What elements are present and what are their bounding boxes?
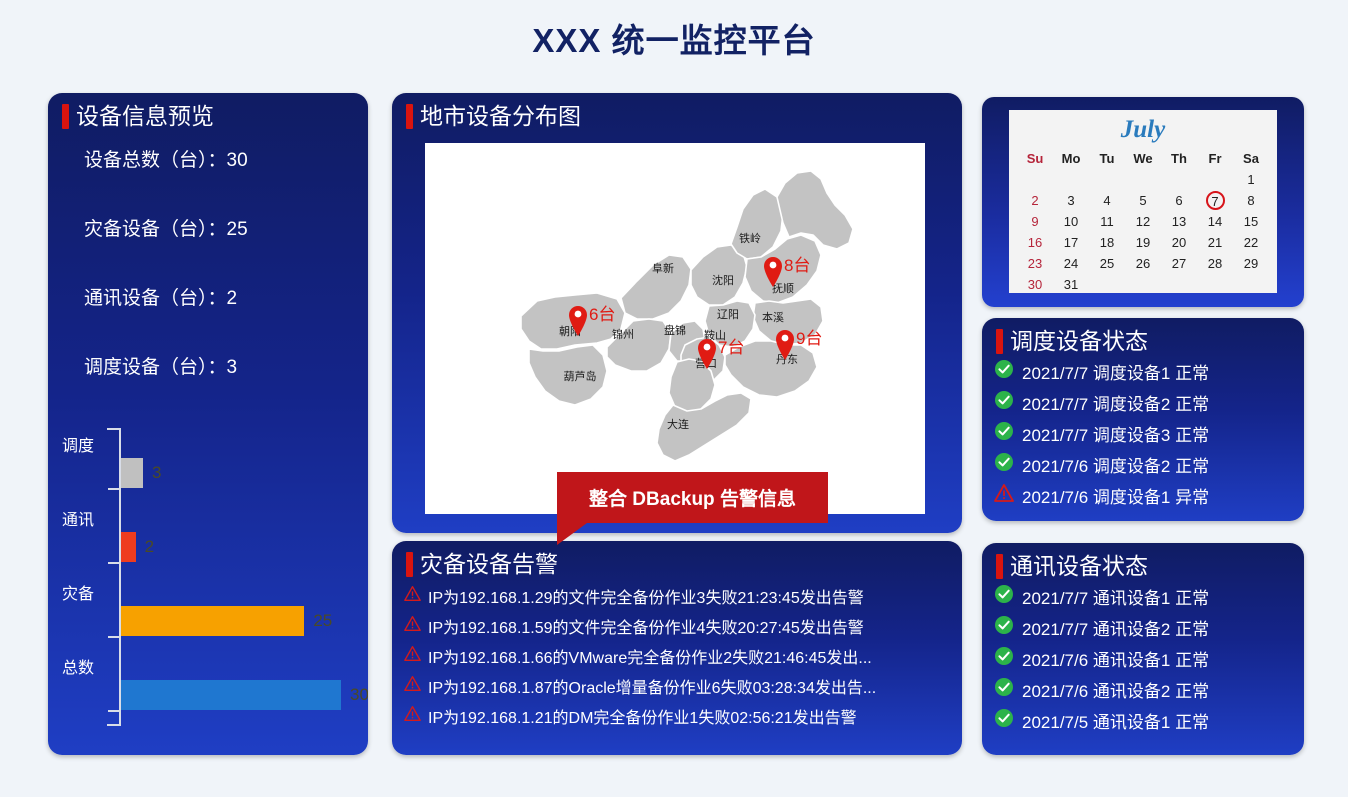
- bar-category-label: 通讯: [62, 506, 114, 530]
- calendar-day-cell[interactable]: 15: [1233, 211, 1269, 232]
- calendar-day-cell[interactable]: 28: [1197, 253, 1233, 274]
- calendar-day-cell[interactable]: 7: [1197, 190, 1233, 211]
- dispatch-status-text: 2021/7/6 调度设备1 异常: [1022, 483, 1209, 508]
- check-circle-icon: [994, 708, 1014, 733]
- calendar-empty-cell: [1161, 274, 1197, 295]
- dispatch-status-header: 调度设备状态: [982, 318, 1304, 354]
- bar-value-label: 25: [313, 611, 332, 631]
- calendar-weekday: Sa: [1233, 148, 1269, 169]
- accent-marker-icon: [406, 104, 413, 129]
- calendar-empty-cell: [1233, 274, 1269, 295]
- comm-status-row[interactable]: 2021/7/6 通讯设备2 正常: [994, 674, 1304, 705]
- map-city-label: 阜新: [652, 261, 674, 275]
- map-heading: 地市设备分布图: [420, 103, 581, 129]
- bar[interactable]: 3: [121, 458, 143, 488]
- comm-status-text: 2021/7/6 通讯设备1 正常: [1022, 646, 1209, 671]
- callout-banner: 整合 DBackup 告警信息: [557, 472, 828, 523]
- calendar-day-cell[interactable]: 13: [1161, 211, 1197, 232]
- comm-status-header: 通讯设备状态: [982, 543, 1304, 579]
- check-circle-icon: [994, 452, 1014, 477]
- map-city-label: 盘锦: [664, 323, 686, 337]
- bar[interactable]: 30: [121, 680, 341, 710]
- calendar-day-cell[interactable]: 23: [1017, 253, 1053, 274]
- bar-category-label: 总数: [62, 654, 114, 678]
- bar-fill: [121, 458, 143, 488]
- calendar-empty-cell: [1197, 274, 1233, 295]
- comm-status-heading: 通讯设备状态: [1010, 553, 1148, 579]
- comm-status-panel: 通讯设备状态 2021/7/7 通讯设备1 正常2021/7/7 通讯设备2 正…: [982, 543, 1304, 755]
- dispatch-status-row[interactable]: 2021/7/7 调度设备3 正常: [994, 418, 1304, 449]
- map-pin-hole: [770, 262, 777, 269]
- device-info-header: 设备信息预览: [48, 93, 368, 129]
- map-city-label: 沈阳: [712, 273, 734, 287]
- calendar-day-cell[interactable]: 19: [1125, 232, 1161, 253]
- accent-marker-icon: [996, 554, 1003, 579]
- alarm-heading: 灾备设备告警: [420, 551, 558, 577]
- callout-tail-icon: [557, 523, 587, 545]
- check-circle-icon: [994, 421, 1014, 446]
- calendar-day-cell[interactable]: 16: [1017, 232, 1053, 253]
- warning-triangle-icon: [404, 675, 421, 697]
- dispatch-status-text: 2021/7/6 调度设备2 正常: [1022, 452, 1209, 477]
- calendar-weekday-row: SuMoTuWeThFrSa: [1017, 148, 1269, 169]
- accent-marker-icon: [62, 104, 69, 129]
- comm-status-list: 2021/7/7 通讯设备1 正常2021/7/7 通讯设备2 正常2021/7…: [982, 579, 1304, 736]
- liaoning-map-svg: 阜新铁岭沈阳抚顺朝阳锦州盘锦辽阳本溪鞍山葫芦岛营口丹东大连 6台8台7台9台: [425, 143, 925, 514]
- alarm-row[interactable]: IP为192.168.1.21的DM完全备份作业1失败02:56:21发出告警: [404, 701, 962, 731]
- comm-status-text: 2021/7/5 通讯设备1 正常: [1022, 708, 1209, 733]
- calendar-weekday: We: [1125, 148, 1161, 169]
- map-pin-label: 8台: [784, 256, 810, 275]
- alarm-text: IP为192.168.1.66的VMware完全备份作业2失败21:46:45发…: [428, 644, 872, 668]
- bar-row: 灾备25: [62, 576, 354, 650]
- calendar-weekday: Fr: [1197, 148, 1233, 169]
- calendar-day-cell[interactable]: 4: [1089, 190, 1125, 211]
- calendar-empty-cell: [1017, 169, 1053, 190]
- dispatch-status-row[interactable]: 2021/7/6 调度设备2 正常: [994, 449, 1304, 480]
- calendar-day-cell[interactable]: 27: [1161, 253, 1197, 274]
- calendar-grid[interactable]: SuMoTuWeThFrSa 1234567891011121314151617…: [1017, 148, 1269, 295]
- map-canvas[interactable]: 阜新铁岭沈阳抚顺朝阳锦州盘锦辽阳本溪鞍山葫芦岛营口丹东大连 6台8台7台9台: [425, 143, 925, 514]
- stat-total: 设备总数（台）：30: [84, 151, 368, 170]
- accent-marker-icon: [406, 552, 413, 577]
- dashboard-page: XXX 统一监控平台 设备信息预览 设备总数（台）：30 灾备设备（台）：25 …: [0, 0, 1348, 797]
- device-bar-chart: 调度3通讯2灾备25总数30: [62, 428, 354, 743]
- warning-triangle-icon: [404, 645, 421, 667]
- calendar-weekday: Su: [1017, 148, 1053, 169]
- map-city-label: 葫芦岛: [564, 369, 597, 383]
- check-circle-icon: [994, 359, 1014, 384]
- calendar-week-row: 2345678: [1017, 190, 1269, 211]
- bar-fill: [121, 680, 341, 710]
- dispatch-status-row[interactable]: 2021/7/7 调度设备2 正常: [994, 387, 1304, 418]
- alarm-text: IP为192.168.1.87的Oracle增量备份作业6失败03:28:34发…: [428, 674, 876, 698]
- bar-fill: [121, 532, 136, 562]
- bar-value-label: 2: [145, 537, 154, 557]
- check-circle-icon: [994, 677, 1014, 702]
- alarm-row[interactable]: IP为192.168.1.29的文件完全备份作业3失败21:23:45发出告警: [404, 581, 962, 611]
- calendar-weekday: Mo: [1053, 148, 1089, 169]
- comm-status-row[interactable]: 2021/7/5 通讯设备1 正常: [994, 705, 1304, 736]
- map-pin-label: 9台: [796, 329, 822, 348]
- alarm-text: IP为192.168.1.29的文件完全备份作业3失败21:23:45发出告警: [428, 584, 864, 608]
- calendar-day-cell[interactable]: 30: [1017, 274, 1053, 295]
- calendar-day-cell[interactable]: 6: [1161, 190, 1197, 211]
- stat-dispatch: 调度设备（台）：3: [84, 358, 368, 377]
- device-stats-list: 设备总数（台）：30 灾备设备（台）：25 通讯设备（台）：2 调度设备（台）：…: [48, 151, 368, 377]
- comm-status-text: 2021/7/7 通讯设备1 正常: [1022, 584, 1209, 609]
- bar-category-label: 调度: [62, 432, 114, 456]
- map-pin-hole: [704, 344, 711, 351]
- alarm-text: IP为192.168.1.59的文件完全备份作业4失败20:27:45发出告警: [428, 614, 864, 638]
- map-city-label: 铁岭: [739, 231, 761, 245]
- calendar-day-cell[interactable]: 11: [1089, 211, 1125, 232]
- calendar-weekday: Th: [1161, 148, 1197, 169]
- page-title: XXX 统一监控平台: [0, 14, 1348, 62]
- calendar-day-cell[interactable]: 24: [1053, 253, 1089, 274]
- calendar-day-cell[interactable]: 14: [1197, 211, 1233, 232]
- axis-tick: [108, 562, 120, 564]
- calendar-day-cell[interactable]: 9: [1017, 211, 1053, 232]
- map-pin-hole: [782, 335, 789, 342]
- axis-tick: [108, 488, 120, 490]
- calendar-day-cell[interactable]: 8: [1233, 190, 1269, 211]
- calendar-day-cell[interactable]: 21: [1197, 232, 1233, 253]
- device-info-panel: 设备信息预览 设备总数（台）：30 灾备设备（台）：25 通讯设备（台）：2 调…: [48, 93, 368, 755]
- dispatch-status-panel: 调度设备状态 2021/7/7 调度设备1 正常2021/7/7 调度设备2 正…: [982, 318, 1304, 521]
- calendar-card[interactable]: July SuMoTuWeThFrSa 12345678910111213141…: [1009, 110, 1277, 293]
- device-info-heading: 设备信息预览: [76, 103, 214, 129]
- bar-row: 调度3: [62, 428, 354, 502]
- calendar-panel: July SuMoTuWeThFrSa 12345678910111213141…: [982, 97, 1304, 307]
- alarm-list: IP为192.168.1.29的文件完全备份作业3失败21:23:45发出告警I…: [392, 577, 962, 731]
- callout-text: 整合 DBackup 告警信息: [589, 484, 796, 511]
- alarm-row[interactable]: IP为192.168.1.66的VMware完全备份作业2失败21:46:45发…: [404, 641, 962, 671]
- calendar-today-marker: 7: [1206, 191, 1225, 210]
- alarm-text: IP为192.168.1.21的DM完全备份作业1失败02:56:21发出告警: [428, 704, 857, 728]
- stat-comm: 通讯设备（台）：2: [84, 289, 368, 308]
- calendar-body[interactable]: 1234567891011121314151617181920212223242…: [1017, 169, 1269, 295]
- dispatch-status-row[interactable]: 2021/7/7 调度设备1 正常: [994, 356, 1304, 387]
- calendar-day-cell[interactable]: 12: [1125, 211, 1161, 232]
- calendar-day-cell[interactable]: 2: [1017, 190, 1053, 211]
- comm-status-text: 2021/7/7 通讯设备2 正常: [1022, 615, 1209, 640]
- calendar-week-row: 3031: [1017, 274, 1269, 295]
- comm-status-row[interactable]: 2021/7/7 通讯设备2 正常: [994, 612, 1304, 643]
- dispatch-status-text: 2021/7/7 调度设备2 正常: [1022, 390, 1209, 415]
- bar-row: 通讯2: [62, 502, 354, 576]
- calendar-week-row: 9101112131415: [1017, 211, 1269, 232]
- calendar-month-label: July: [1009, 114, 1277, 145]
- axis-cap-bottom: [107, 724, 120, 726]
- calendar-week-row: 16171819202122: [1017, 232, 1269, 253]
- calendar-day-cell[interactable]: 22: [1233, 232, 1269, 253]
- calendar-day-cell[interactable]: 1: [1233, 169, 1269, 190]
- alarm-header: 灾备设备告警: [392, 541, 962, 577]
- calendar-empty-cell: [1089, 169, 1125, 190]
- map-city-label: 本溪: [762, 310, 784, 324]
- calendar-empty-cell: [1125, 274, 1161, 295]
- bar-row: 总数30: [62, 650, 354, 724]
- map-city-label: 大连: [667, 417, 689, 431]
- calendar-day-cell[interactable]: 26: [1125, 253, 1161, 274]
- comm-status-text: 2021/7/6 通讯设备2 正常: [1022, 677, 1209, 702]
- calendar-empty-cell: [1161, 169, 1197, 190]
- bar-value-label: 30: [350, 685, 368, 705]
- comm-status-row[interactable]: 2021/7/7 通讯设备1 正常: [994, 581, 1304, 612]
- check-circle-icon: [994, 615, 1014, 640]
- map-header: 地市设备分布图: [392, 93, 962, 129]
- stat-backup: 灾备设备（台）：25: [84, 220, 368, 239]
- alarm-row[interactable]: IP为192.168.1.59的文件完全备份作业4失败20:27:45发出告警: [404, 611, 962, 641]
- calendar-day-cell[interactable]: 20: [1161, 232, 1197, 253]
- calendar-weekday: Tu: [1089, 148, 1125, 169]
- axis-tick: [108, 710, 120, 712]
- calendar-day-cell[interactable]: 3: [1053, 190, 1089, 211]
- map-pin-label: 7台: [718, 338, 744, 357]
- warning-triangle-icon: [404, 585, 421, 607]
- calendar-day-cell[interactable]: 25: [1089, 253, 1125, 274]
- calendar-week-row: 1: [1017, 169, 1269, 190]
- check-circle-icon: [994, 584, 1014, 609]
- bar[interactable]: 25: [121, 606, 304, 636]
- axis-tick: [108, 636, 120, 638]
- alarm-panel: 灾备设备告警 IP为192.168.1.29的文件完全备份作业3失败21:23:…: [392, 541, 962, 755]
- check-circle-icon: [994, 390, 1014, 415]
- warning-triangle-icon: [404, 705, 421, 727]
- check-circle-icon: [994, 646, 1014, 671]
- warning-triangle-icon: [404, 615, 421, 637]
- map-city-label: 锦州: [612, 327, 634, 341]
- comm-status-row[interactable]: 2021/7/6 通讯设备1 正常: [994, 643, 1304, 674]
- bar-category-label: 灾备: [62, 580, 114, 604]
- calendar-empty-cell: [1197, 169, 1233, 190]
- accent-marker-icon: [996, 329, 1003, 354]
- calendar-day-cell[interactable]: 5: [1125, 190, 1161, 211]
- dispatch-status-row[interactable]: 2021/7/6 调度设备1 异常: [994, 480, 1304, 511]
- map-pin-hole: [575, 311, 582, 318]
- calendar-empty-cell: [1089, 274, 1125, 295]
- calendar-day-cell[interactable]: 31: [1053, 274, 1089, 295]
- calendar-week-row: 23242526272829: [1017, 253, 1269, 274]
- bar-value-label: 3: [152, 463, 161, 483]
- map-pin-label: 6台: [589, 305, 615, 324]
- map-panel: 地市设备分布图: [392, 93, 962, 533]
- dispatch-status-heading: 调度设备状态: [1010, 328, 1148, 354]
- calendar-empty-cell: [1125, 169, 1161, 190]
- calendar-day-cell[interactable]: 10: [1053, 211, 1089, 232]
- bar-fill: [121, 606, 304, 636]
- calendar-day-cell[interactable]: 17: [1053, 232, 1089, 253]
- map-city-label: 辽阳: [717, 308, 739, 321]
- calendar-empty-cell: [1053, 169, 1089, 190]
- bar[interactable]: 2: [121, 532, 136, 562]
- dispatch-status-list: 2021/7/7 调度设备1 正常2021/7/7 调度设备2 正常2021/7…: [982, 354, 1304, 511]
- alarm-row[interactable]: IP为192.168.1.87的Oracle增量备份作业6失败03:28:34发…: [404, 671, 962, 701]
- calendar-day-cell[interactable]: 18: [1089, 232, 1125, 253]
- calendar-day-cell[interactable]: 29: [1233, 253, 1269, 274]
- dispatch-status-text: 2021/7/7 调度设备1 正常: [1022, 359, 1209, 384]
- warning-triangle-icon: [994, 483, 1014, 508]
- dispatch-status-text: 2021/7/7 调度设备3 正常: [1022, 421, 1209, 446]
